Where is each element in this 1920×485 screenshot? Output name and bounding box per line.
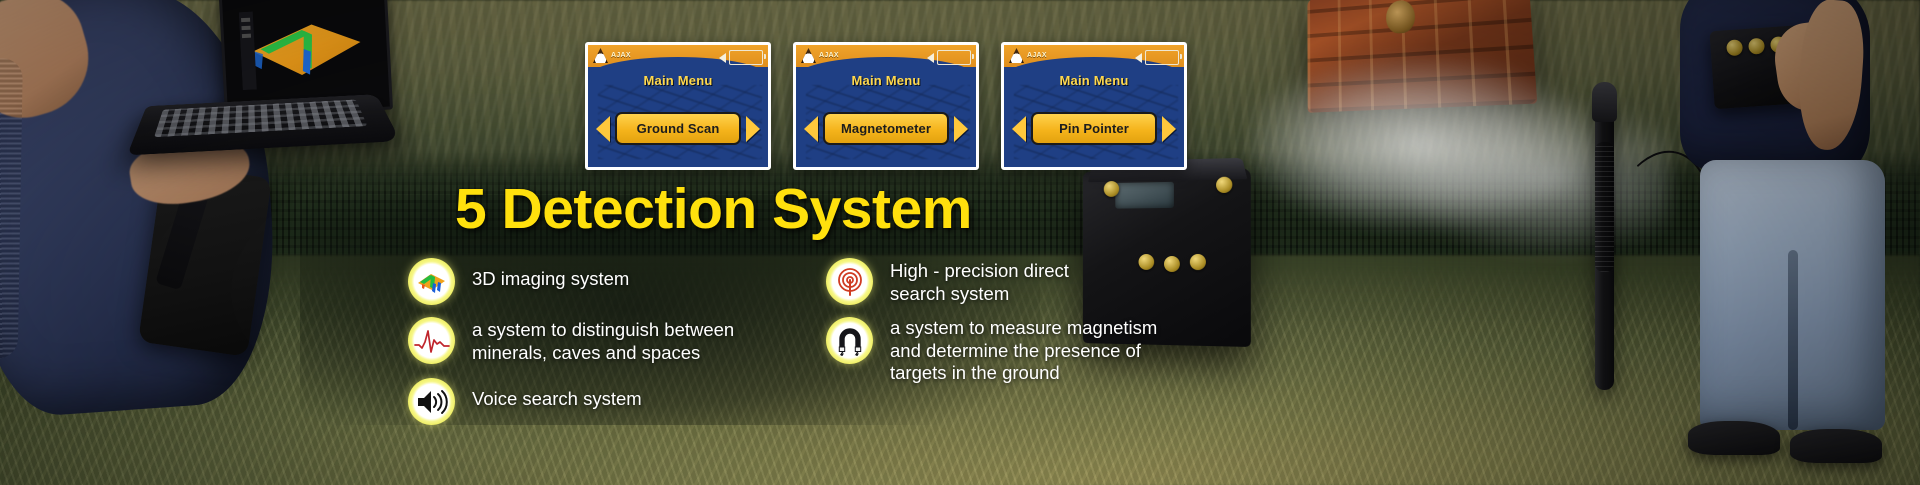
page-title: 5 Detection System [455, 176, 972, 242]
list-item-label: High - precision direct search system [890, 258, 1069, 305]
list-item: a system to measure magnetism and determ… [826, 317, 1196, 385]
jeans-seam [1788, 250, 1798, 430]
card-title: Main Menu [796, 73, 976, 88]
selected-option[interactable]: Ground Scan [615, 112, 741, 145]
chest-bands [1307, 0, 1537, 113]
speaker-icon [719, 53, 726, 63]
brand-name: AJAX [611, 52, 631, 59]
menu-card-pin-pointer[interactable]: AJAX Main Menu Pin Pointer [1001, 42, 1187, 170]
arrow-right-icon[interactable] [1162, 116, 1176, 142]
arrow-right-icon[interactable] [954, 116, 968, 142]
brand-logo: AJAX [593, 48, 631, 63]
option-selector: Magnetometer [804, 112, 968, 145]
list-item-label: a system to distinguish between minerals… [472, 317, 734, 364]
list-item: a system to distinguish between minerals… [408, 317, 768, 364]
arrow-right-icon[interactable] [746, 116, 760, 142]
forearm [0, 0, 102, 130]
menu-card-ground-scan[interactable]: AJAX Main Menu Ground Scan [585, 42, 771, 170]
arrow-left-icon[interactable] [804, 116, 818, 142]
list-item: High - precision direct search system [826, 258, 1196, 305]
treasure-chest [1307, 0, 1537, 113]
brand-name: AJAX [819, 52, 839, 59]
probe-grip [1592, 82, 1617, 122]
arrow-left-icon[interactable] [596, 116, 610, 142]
laptop [141, 0, 389, 163]
speaker-icon [1135, 53, 1142, 63]
promo-banner: AJAX Main Menu Ground Scan AJAX [0, 0, 1920, 485]
selected-option[interactable]: Pin Pointer [1031, 112, 1157, 145]
brand-logo: AJAX [1009, 48, 1047, 63]
waveform-pulse-icon [408, 317, 455, 364]
card-title: Main Menu [1004, 73, 1184, 88]
menu-cards-row: AJAX Main Menu Ground Scan AJAX [585, 42, 1187, 170]
option-selector: Ground Scan [596, 112, 760, 145]
arrow-left-icon[interactable] [1012, 116, 1026, 142]
menu-card-magnetometer[interactable]: AJAX Main Menu Magnetometer [793, 42, 979, 170]
brand-logo: AJAX [801, 48, 839, 63]
feature-column-left: 3D imaging system a system to distinguis… [408, 258, 768, 443]
detector-display [1115, 182, 1174, 209]
control-knob [1748, 38, 1765, 55]
list-item-label: a system to measure magnetism and determ… [890, 317, 1157, 385]
battery-icon [729, 50, 763, 65]
brand-name: AJAX [1027, 52, 1047, 59]
list-item-label: 3D imaging system [472, 258, 629, 291]
status-indicators [1135, 50, 1179, 65]
selected-option[interactable]: Magnetometer [823, 112, 949, 145]
list-item: 3D imaging system [408, 258, 768, 305]
magnet-icon [826, 317, 873, 364]
feature-column-right: High - precision direct search system a … [826, 258, 1196, 403]
card-title: Main Menu [588, 73, 768, 88]
mountain-logo-icon [1009, 48, 1024, 63]
keyboard [154, 100, 367, 138]
battery-icon [1145, 50, 1179, 65]
mountain-logo-icon [801, 48, 816, 63]
jeans [1700, 160, 1885, 430]
3d-ground-scan-visualization [239, 6, 371, 91]
shoe [1688, 421, 1780, 455]
option-selector: Pin Pointer [1012, 112, 1176, 145]
mountain-logo-icon [593, 48, 608, 63]
list-item: Voice search system [408, 378, 768, 425]
status-indicators [719, 50, 763, 65]
status-indicators [927, 50, 971, 65]
detector-knob [1216, 177, 1232, 194]
terrain-scan-icon [408, 258, 455, 305]
control-knob [1726, 39, 1743, 56]
shoe [1790, 429, 1882, 463]
speaker-icon [927, 53, 934, 63]
list-item-label: Voice search system [472, 378, 642, 411]
speaker-sound-icon [408, 378, 455, 425]
radar-signal-icon [826, 258, 873, 305]
battery-icon [937, 50, 971, 65]
laptop-keyboard-base [127, 94, 401, 155]
